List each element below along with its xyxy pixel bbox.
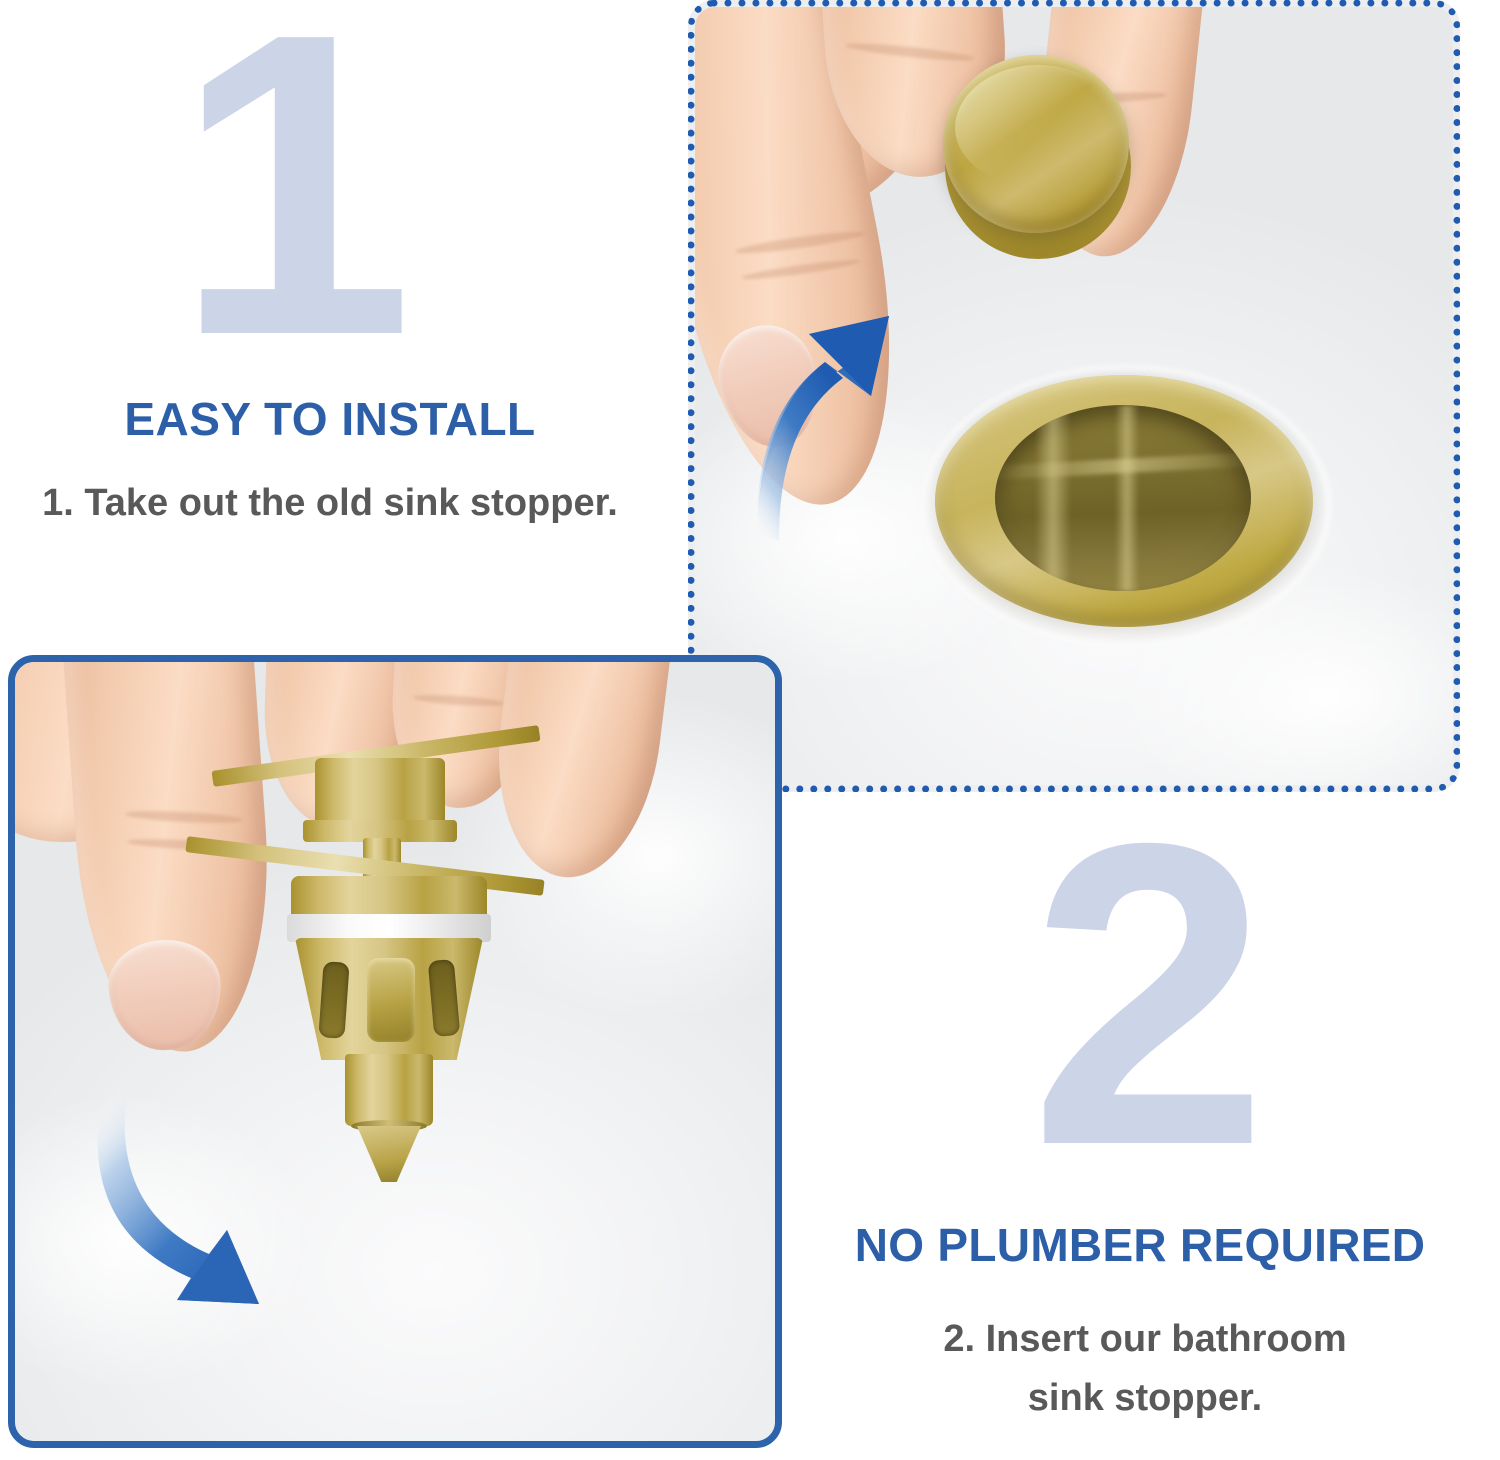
step-1-text-block: 1 EASY TO INSTALL 1. Take out the old si… [0, 0, 680, 600]
step-1-body-text: 1. Take out the old sink stopper. [0, 482, 660, 525]
step-2-body-line-1: 2. Insert our bathroom [790, 1310, 1500, 1369]
step-2-photo-panel [8, 655, 782, 1448]
drain-reflection [1115, 405, 1139, 591]
cage-center-post [367, 958, 415, 1042]
step-2-photo [15, 662, 775, 1441]
step-2-numeral: 2 [790, 780, 1500, 1210]
step-2-body-text: 2. Insert our bathroom sink stopper. [790, 1310, 1500, 1428]
drain-opening [995, 405, 1251, 591]
threaded-stem [345, 1054, 433, 1126]
step-2-body-line-2: sink stopper. [790, 1369, 1500, 1428]
drain-reflection [1035, 405, 1071, 591]
cage-slot [318, 961, 349, 1039]
silicone-gasket [287, 914, 491, 942]
step-1-numeral: 1 [0, 0, 580, 400]
step-2-heading: NO PLUMBER REQUIRED [785, 1218, 1495, 1272]
step-1-photo [695, 7, 1453, 785]
step-2-text-block: 2 NO PLUMBER REQUIRED 2. Insert our bath… [790, 840, 1500, 1460]
step-1-heading: EASY TO INSTALL [0, 392, 660, 446]
step-1-photo-panel [688, 0, 1460, 792]
